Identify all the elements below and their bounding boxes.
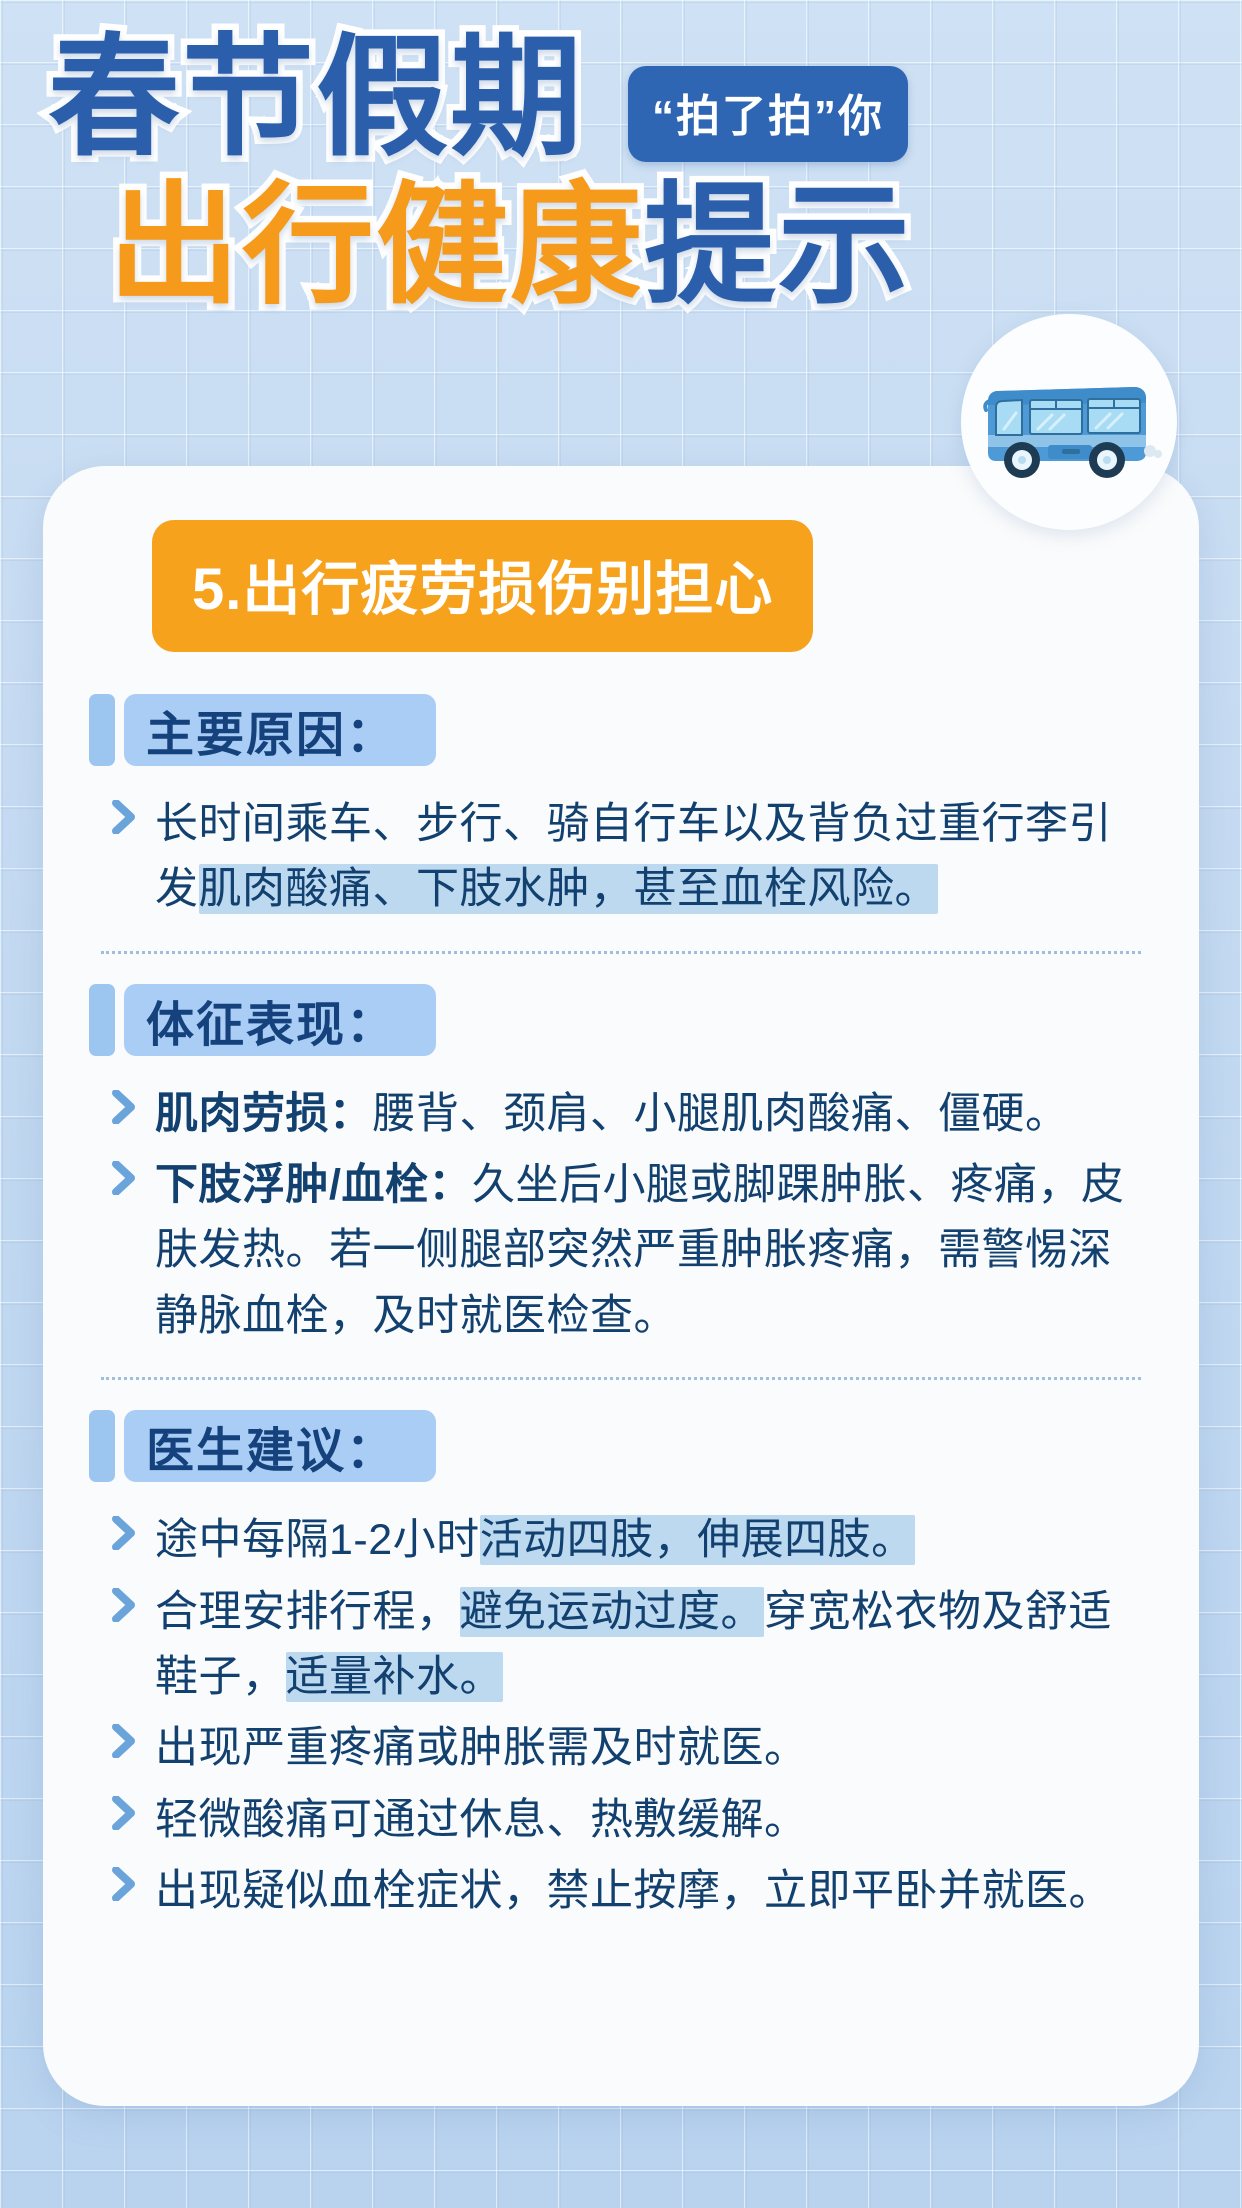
- bullet-item: 下肢浮肿/血栓：久坐后小腿或脚踝肿胀、疼痛，皮肤发热。若一侧腿部突然严重肿胀疼痛…: [89, 1153, 1153, 1349]
- bullet-item: 出现疑似血栓症状，禁止按摩，立即平卧并就医。: [89, 1859, 1153, 1924]
- heading-accent-bar: [89, 984, 115, 1056]
- chevron-right-icon: [111, 1508, 155, 1550]
- bullet-item: 轻微酸痛可通过休息、热敷缓解。: [89, 1788, 1153, 1853]
- bullet-item: 途中每隔1-2小时活动四肢，伸展四肢。: [89, 1508, 1153, 1573]
- chevron-right-icon: [111, 1580, 155, 1622]
- bullet-text-run: 途中每隔1-2小时: [155, 1516, 480, 1564]
- heading-label: 医生建议：: [124, 1410, 436, 1482]
- pat-badge: “拍了拍”你: [628, 66, 908, 162]
- poster-title-line2-blue: 提示: [644, 168, 912, 324]
- section-heading: 医生建议：: [89, 1410, 1153, 1482]
- title-row-first: 春节假期 “拍了拍”你: [48, 20, 908, 176]
- poster-title-line1: 春节假期: [48, 20, 584, 176]
- heading-accent-bar: [89, 1410, 115, 1482]
- bullet-item: 出现严重疼痛或肿胀需及时就医。: [89, 1716, 1153, 1781]
- poster-title-line2-orange: 出行健康: [108, 168, 644, 324]
- heading-label: 体征表现：: [124, 984, 436, 1056]
- bullet-text: 途中每隔1-2小时活动四肢，伸展四肢。: [155, 1508, 1153, 1573]
- bullet-text: 轻微酸痛可通过休息、热敷缓解。: [155, 1788, 1153, 1853]
- heading-label: 主要原因：: [124, 694, 436, 766]
- section-group: 主要原因：长时间乘车、步行、骑自行车以及背负过重行李引发肌肉酸痛、下肢水肿，甚至…: [89, 694, 1153, 923]
- highlighted-text: 适量补水。: [286, 1652, 504, 1702]
- section-heading: 主要原因：: [89, 694, 1153, 766]
- section-divider: [101, 1377, 1141, 1380]
- section-group: 医生建议：途中每隔1-2小时活动四肢，伸展四肢。合理安排行程，避免运动过度。穿宽…: [89, 1410, 1153, 1924]
- chevron-right-icon: [111, 1153, 155, 1195]
- bus-icon: [974, 357, 1164, 487]
- chevron-right-icon: [111, 792, 155, 834]
- bullet-text: 下肢浮肿/血栓：久坐后小腿或脚踝肿胀、疼痛，皮肤发热。若一侧腿部突然严重肿胀疼痛…: [155, 1153, 1153, 1349]
- chevron-right-icon: [111, 1859, 155, 1901]
- bullet-text: 合理安排行程，避免运动过度。穿宽松衣物及舒适鞋子，适量补水。: [155, 1580, 1153, 1711]
- section-divider: [101, 951, 1141, 954]
- section-group: 体征表现：肌肉劳损：腰背、颈肩、小腿肌肉酸痛、僵硬。下肢浮肿/血栓：久坐后小腿或…: [89, 984, 1153, 1349]
- section-heading: 体征表现：: [89, 984, 1153, 1056]
- highlighted-text: 避免运动过度。: [460, 1587, 765, 1637]
- section-title-pill: 5.出行疲劳损伤别担心: [152, 520, 813, 652]
- bus-illustration-circle: [961, 314, 1177, 530]
- highlighted-text: 肌肉酸痛、下肢水肿，甚至血栓风险。: [199, 864, 939, 914]
- chevron-right-icon: [111, 1716, 155, 1758]
- bullet-text-run: 出现严重疼痛或肿胀需及时就医。: [155, 1724, 808, 1772]
- title-row-second: 出行健康 提示: [108, 168, 912, 324]
- bullet-lead-in: 肌肉劳损：: [155, 1090, 373, 1138]
- bullet-text-run: 出现疑似血栓症状，禁止按摩，立即平卧并就医。: [155, 1867, 1112, 1915]
- bullet-text: 肌肉劳损：腰背、颈肩、小腿肌肉酸痛、僵硬。: [155, 1082, 1153, 1147]
- card-body: 主要原因：长时间乘车、步行、骑自行车以及背负过重行李引发肌肉酸痛、下肢水肿，甚至…: [43, 694, 1199, 1930]
- bullet-item: 合理安排行程，避免运动过度。穿宽松衣物及舒适鞋子，适量补水。: [89, 1580, 1153, 1711]
- bullet-text-run: 合理安排行程，: [155, 1588, 460, 1636]
- bullet-text-run: 腰背、颈肩、小腿肌肉酸痛、僵硬。: [373, 1090, 1069, 1138]
- content-card: 5.出行疲劳损伤别担心 主要原因：长时间乘车、步行、骑自行车以及背负过重行李引发…: [43, 466, 1199, 2106]
- sections-container: 主要原因：长时间乘车、步行、骑自行车以及背负过重行李引发肌肉酸痛、下肢水肿，甚至…: [89, 694, 1153, 1924]
- bullet-text: 出现严重疼痛或肿胀需及时就医。: [155, 1716, 1153, 1781]
- heading-accent-bar: [89, 694, 115, 766]
- bullet-lead-in: 下肢浮肿/血栓：: [155, 1161, 472, 1209]
- bullet-text-run: 轻微酸痛可通过休息、热敷缓解。: [155, 1796, 808, 1844]
- bullet-item: 肌肉劳损：腰背、颈肩、小腿肌肉酸痛、僵硬。: [89, 1082, 1153, 1147]
- bullet-text: 长时间乘车、步行、骑自行车以及背负过重行李引发肌肉酸痛、下肢水肿，甚至血栓风险。: [155, 792, 1153, 923]
- chevron-right-icon: [111, 1788, 155, 1830]
- poster-root: 春节假期 “拍了拍”你 出行健康 提示: [0, 0, 1242, 2208]
- bullet-item: 长时间乘车、步行、骑自行车以及背负过重行李引发肌肉酸痛、下肢水肿，甚至血栓风险。: [89, 792, 1153, 923]
- highlighted-text: 活动四肢，伸展四肢。: [480, 1515, 915, 1565]
- chevron-right-icon: [111, 1082, 155, 1124]
- bullet-text: 出现疑似血栓症状，禁止按摩，立即平卧并就医。: [155, 1859, 1153, 1924]
